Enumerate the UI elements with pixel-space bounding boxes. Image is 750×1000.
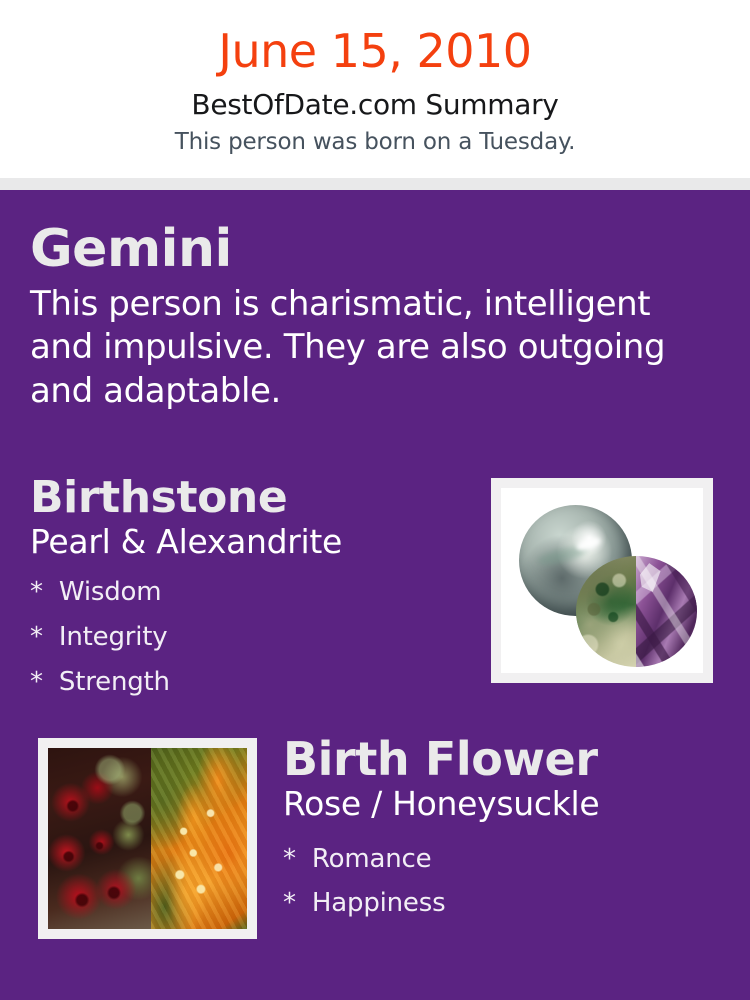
birth-flower-photo: [48, 748, 247, 929]
birth-flower-title: Birth Flower: [283, 735, 723, 783]
site-summary-label: BestOfDate.com Summary: [0, 74, 750, 121]
birth-flower-trait-list: * Romance * Happiness: [283, 823, 723, 926]
birthstone-section: Birthstone Pearl & Alexandrite * Wisdom …: [30, 475, 470, 705]
birth-flower-photo-frame: [38, 738, 257, 939]
birthstone-photo-frame: [491, 478, 713, 683]
zodiac-section: Gemini This person is charismatic, intel…: [30, 222, 720, 413]
alexandrite-gem-icon: [576, 556, 697, 667]
page-title-date: June 15, 2010: [0, 0, 750, 74]
birthstone-trait-list: * Wisdom * Integrity * Strength: [30, 560, 470, 704]
header-divider: [0, 178, 750, 190]
list-item: * Romance: [283, 837, 723, 882]
alexandrite-rough-half: [576, 556, 637, 667]
birthstone-names: Pearl & Alexandrite: [30, 521, 470, 560]
zodiac-description: This person is charismatic, intelligent …: [30, 277, 690, 414]
birthday-summary-page: June 15, 2010 BestOfDate.com Summary Thi…: [0, 0, 750, 1000]
weekday-note: This person was born on a Tuesday.: [0, 121, 750, 155]
list-item: * Strength: [30, 660, 470, 705]
honeysuckle-photo-half: [151, 748, 247, 929]
zodiac-sign-title: Gemini: [30, 222, 720, 277]
birth-flower-section: Birth Flower Rose / Honeysuckle * Romanc…: [283, 735, 723, 926]
page-header: June 15, 2010 BestOfDate.com Summary Thi…: [0, 0, 750, 178]
birth-flower-names: Rose / Honeysuckle: [283, 783, 723, 822]
rose-photo-half: [48, 748, 151, 929]
birthstone-title: Birthstone: [30, 475, 470, 521]
alexandrite-faceted-half: [636, 556, 697, 667]
list-item: * Wisdom: [30, 570, 470, 615]
list-item: * Integrity: [30, 615, 470, 660]
list-item: * Happiness: [283, 881, 723, 926]
birthstone-photo: [501, 488, 703, 673]
